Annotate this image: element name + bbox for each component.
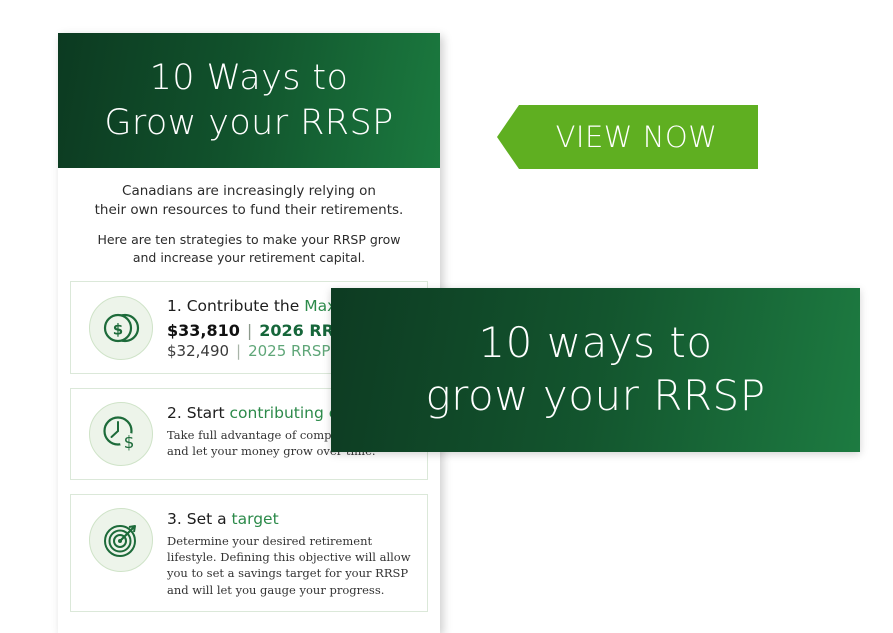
intro-paragraph-2: Here are ten strategies to make your RRS… xyxy=(76,231,422,267)
tip-card-title-plain: Contribute the xyxy=(187,297,304,315)
tip-card-title-highlight: target xyxy=(232,510,279,528)
tip-card-title-plain: Start xyxy=(187,404,230,422)
amount-value: $32,490 xyxy=(167,342,229,360)
amount-separator: | xyxy=(247,321,252,340)
panel-intro: Canadians are increasingly relying on th… xyxy=(58,168,440,273)
target-arrow-icon xyxy=(89,508,153,572)
tip-card-description: Determine your desired retirement lifest… xyxy=(167,533,417,598)
clock-dollar-icon: $ xyxy=(89,402,153,466)
svg-text:$: $ xyxy=(124,433,135,453)
view-now-button-label: VIEW NOW xyxy=(538,120,718,154)
coins-dollar-icon: $ xyxy=(89,296,153,360)
tip-card-title-plain: Set a xyxy=(187,510,232,528)
panel-header: 10 Ways to Grow your RRSP xyxy=(58,33,440,168)
amount-value: $33,810 xyxy=(167,321,240,340)
overlay-banner: 10 ways to grow your RRSP xyxy=(331,288,860,452)
tip-card-title: 3. Set a target xyxy=(167,510,417,529)
tip-card-body: 3. Set a target Determine your desired r… xyxy=(167,508,417,598)
tip-card-number: 3. xyxy=(167,510,182,528)
tip-card[interactable]: 3. Set a target Determine your desired r… xyxy=(70,494,428,612)
tip-card-number: 1. xyxy=(167,297,182,315)
view-now-button[interactable]: VIEW NOW xyxy=(497,105,758,169)
amount-separator: | xyxy=(236,342,241,360)
tip-card-number: 2. xyxy=(167,404,182,422)
overlay-banner-title: 10 ways to grow your RRSP xyxy=(425,317,765,423)
amount-year-label: 2025 RRSP xyxy=(248,342,330,360)
intro-paragraph-1: Canadians are increasingly relying on th… xyxy=(76,182,422,220)
panel-header-title: 10 Ways to Grow your RRSP xyxy=(104,56,393,146)
svg-text:$: $ xyxy=(113,320,123,338)
